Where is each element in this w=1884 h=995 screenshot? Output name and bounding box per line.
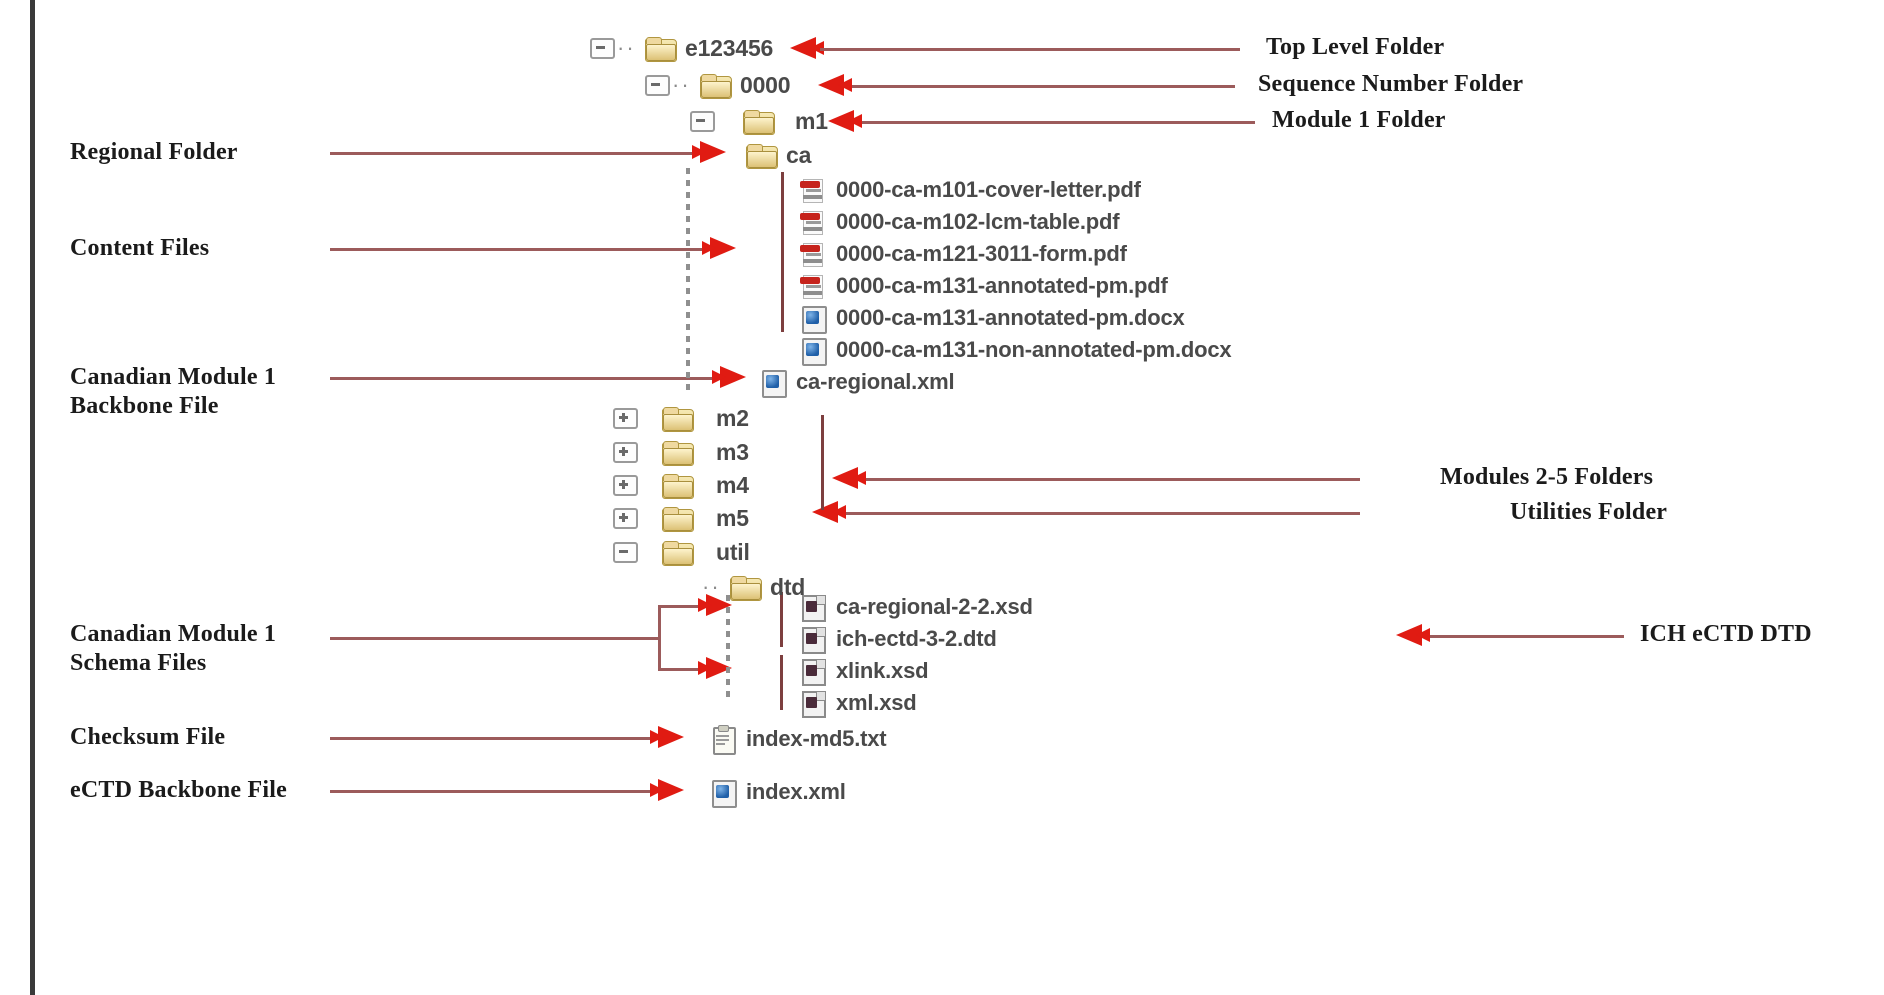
arrowhead-checksum-file (658, 726, 684, 748)
folder-icon (746, 144, 776, 167)
tree-node-m1[interactable]: m1 (690, 106, 828, 136)
tree-file-non-annotated-pm-docx[interactable]: 0000-ca-m131-non-annotated-pm.docx (800, 335, 1231, 365)
expand-toggle-icon[interactable] (613, 408, 638, 429)
callout-sequence-number-folder: Sequence Number Folder (1258, 70, 1523, 99)
callout-utilities-folder: Utilities Folder (1510, 498, 1667, 527)
tree-connector-dots-icon: ·· (702, 582, 722, 592)
arrowhead-top-level-folder (790, 37, 816, 59)
leader-schema-files (330, 637, 660, 640)
expand-toggle-icon[interactable] (613, 475, 638, 496)
schema-file-icon (800, 594, 826, 620)
tree-file-label: ich-ectd-3-2.dtd (836, 626, 997, 652)
expand-toggle-icon[interactable] (613, 442, 638, 463)
callout-backbone-file-line2: Backbone File (70, 392, 276, 421)
schema-file-icon (800, 690, 826, 716)
tree-file-label: 0000-ca-m101-cover-letter.pdf (836, 177, 1141, 203)
tree-file-xml-xsd[interactable]: xml.xsd (800, 688, 917, 718)
tree-file-index-xml[interactable]: index.xml (710, 777, 846, 807)
tree-node-label: m1 (795, 108, 828, 135)
collapse-toggle-icon[interactable] (690, 111, 715, 132)
leader-module1-folder (855, 121, 1255, 124)
tree-file-label: 0000-ca-m121-3011-form.pdf (836, 241, 1127, 267)
callout-ich-ectd-dtd: ICH eCTD DTD (1640, 620, 1812, 649)
folder-icon (662, 474, 692, 497)
arrowhead-backbone-file (720, 366, 746, 388)
tree-file-label: 0000-ca-m131-annotated-pm.pdf (836, 273, 1168, 299)
tree-file-label: xlink.xsd (836, 658, 928, 684)
leader-modules-2-5 (860, 478, 1360, 481)
arrowhead-content-files (710, 237, 736, 259)
xml-document-icon (710, 779, 736, 805)
word-document-icon (800, 337, 826, 363)
pdf-file-icon (800, 273, 826, 299)
collapse-toggle-icon[interactable] (613, 542, 638, 563)
callout-ectd-backbone-file: eCTD Backbone File (70, 776, 287, 805)
tree-file-label: ca-regional-2-2.xsd (836, 594, 1033, 620)
callout-modules-2-5-folders: Modules 2-5 Folders (1440, 463, 1653, 492)
tree-file-ca-regional-xml[interactable]: ca-regional.xml (760, 367, 954, 397)
tree-node-label: 0000 (740, 72, 790, 99)
arrowhead-modules-2-5 (832, 467, 858, 489)
tree-file-3011-form[interactable]: 0000-ca-m121-3011-form.pdf (800, 239, 1127, 269)
tree-file-cover-letter[interactable]: 0000-ca-m101-cover-letter.pdf (800, 175, 1141, 205)
tree-file-label: index-md5.txt (746, 726, 886, 752)
tree-file-label: ca-regional.xml (796, 369, 954, 395)
tree-file-label: 0000-ca-m102-lcm-table.pdf (836, 209, 1119, 235)
arrowhead-regional-folder (700, 141, 726, 163)
tree-guide-content-files (781, 172, 784, 332)
arrowhead-ectd-backbone-file (658, 779, 684, 801)
tree-guide-ca-dotted (686, 168, 690, 393)
leader-ectd-backbone-file (330, 790, 660, 793)
pdf-file-icon (800, 177, 826, 203)
leader-utilities-folder (840, 512, 1360, 515)
leader-sequence-number-folder (845, 85, 1235, 88)
folder-icon (743, 110, 773, 133)
tree-file-label: 0000-ca-m131-non-annotated-pm.docx (836, 337, 1231, 363)
folder-icon (662, 507, 692, 530)
tree-node-e123456[interactable]: ·· e123456 (590, 33, 773, 63)
tree-node-label: m5 (716, 505, 749, 532)
callout-schema-files-line2: Schema Files (70, 649, 276, 678)
tree-node-dtd[interactable]: ·· dtd (700, 572, 805, 602)
tree-node-m2[interactable]: m2 (613, 403, 749, 433)
schema-file-icon (800, 658, 826, 684)
tree-file-index-md5-txt[interactable]: index-md5.txt (710, 724, 886, 754)
callout-backbone-file-line1: Canadian Module 1 (70, 363, 276, 392)
tree-file-ca-regional-xsd[interactable]: ca-regional-2-2.xsd (800, 592, 1033, 622)
arrowhead-sequence-number-folder (818, 74, 844, 96)
figure-left-border (30, 0, 35, 995)
tree-file-label: 0000-ca-m131-annotated-pm.docx (836, 305, 1185, 331)
figure-canvas: ·· e123456 ·· 0000 m1 ca 0000-ca-m101-co… (0, 0, 1884, 995)
tree-file-label: xml.xsd (836, 690, 917, 716)
tree-node-m5[interactable]: m5 (613, 503, 749, 533)
folder-icon (730, 576, 760, 599)
callout-schema-files: Canadian Module 1 Schema Files (70, 620, 276, 679)
callout-backbone-file: Canadian Module 1 Backbone File (70, 363, 276, 422)
arrowhead-module1-folder (828, 110, 854, 132)
callout-schema-files-line1: Canadian Module 1 (70, 620, 276, 649)
collapse-toggle-icon[interactable] (590, 38, 615, 59)
callout-content-files: Content Files (70, 234, 209, 263)
tree-node-label: e123456 (685, 35, 773, 62)
tree-node-label: ca (786, 142, 811, 169)
tree-node-label: m2 (716, 405, 749, 432)
tree-node-util[interactable]: util (613, 537, 750, 567)
folder-icon (645, 37, 675, 60)
leader-checksum-file (330, 737, 660, 740)
checksum-file-icon (710, 726, 736, 752)
xml-document-icon (760, 369, 786, 395)
folder-icon (662, 441, 692, 464)
word-document-icon (800, 305, 826, 331)
folder-icon (662, 407, 692, 430)
leader-top-level-folder (990, 48, 1240, 51)
collapse-toggle-icon[interactable] (645, 75, 670, 96)
arrowhead-utilities-folder (812, 501, 838, 523)
pdf-file-icon (800, 241, 826, 267)
tree-node-label: util (716, 539, 750, 566)
callout-module-1-folder: Module 1 Folder (1272, 106, 1446, 135)
tree-file-annotated-pm-pdf[interactable]: 0000-ca-m131-annotated-pm.pdf (800, 271, 1168, 301)
callout-checksum-file: Checksum File (70, 723, 225, 752)
schema-file-icon (800, 626, 826, 652)
tree-guide-schema-lower (780, 655, 783, 710)
leader-top-level-folder-2 (820, 48, 995, 51)
tree-node-0000[interactable]: ·· 0000 (645, 70, 790, 100)
tree-connector-dots-icon: ·· (672, 80, 692, 90)
tree-node-label: m4 (716, 472, 749, 499)
tree-node-ca[interactable]: ca (740, 140, 811, 170)
folder-icon (700, 74, 730, 97)
tree-file-xlink-xsd[interactable]: xlink.xsd (800, 656, 928, 686)
leader-content-files (330, 248, 710, 251)
leader-schema-bracket (658, 605, 661, 670)
callout-regional-folder: Regional Folder (70, 138, 238, 167)
tree-file-ich-ectd-dtd[interactable]: ich-ectd-3-2.dtd (800, 624, 997, 654)
tree-guide-dtd-dotted (726, 595, 730, 700)
tree-file-label: index.xml (746, 779, 846, 805)
tree-node-label: m3 (716, 439, 749, 466)
leader-backbone-file (330, 377, 720, 380)
tree-node-m4[interactable]: m4 (613, 470, 749, 500)
tree-node-m3[interactable]: m3 (613, 437, 749, 467)
callout-top-level-folder: Top Level Folder (1266, 33, 1444, 62)
tree-file-lcm-table[interactable]: 0000-ca-m102-lcm-table.pdf (800, 207, 1119, 237)
leader-regional-folder (330, 152, 700, 155)
pdf-file-icon (800, 209, 826, 235)
folder-icon (662, 541, 692, 564)
tree-guide-modules (821, 415, 824, 510)
tree-connector-dots-icon: ·· (617, 43, 637, 53)
tree-file-annotated-pm-docx[interactable]: 0000-ca-m131-annotated-pm.docx (800, 303, 1185, 333)
leader-ich-ectd-dtd (1424, 635, 1624, 638)
expand-toggle-icon[interactable] (613, 508, 638, 529)
arrowhead-ich-ectd-dtd (1396, 624, 1422, 646)
